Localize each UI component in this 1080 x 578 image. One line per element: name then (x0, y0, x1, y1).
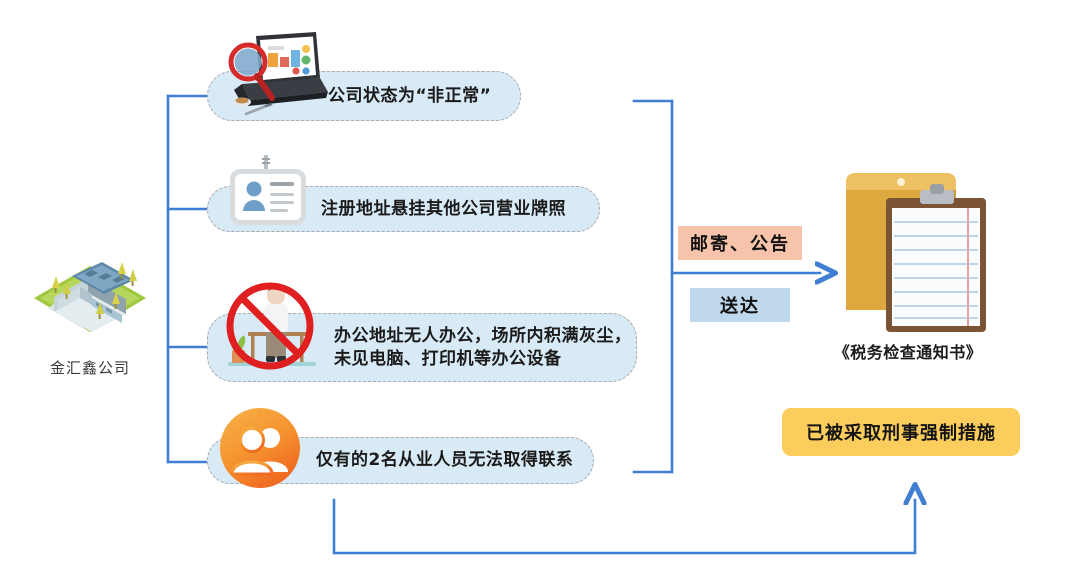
diagram-canvas: 金汇鑫公司 公司状态为“非正常” 注册地 (0, 0, 1080, 578)
envelope-clipboard-icon (828, 160, 988, 332)
finding-label-4: 仅有的2名从业人员无法取得联系 (316, 449, 573, 471)
notice-document-label: 《税务检查通知书》 (828, 339, 988, 363)
finding-box-2[interactable]: 注册地址悬挂其他公司营业牌照 (207, 186, 600, 232)
finding-label-2: 注册地址悬挂其他公司营业牌照 (321, 198, 566, 220)
delivery-label: 送达 (690, 288, 790, 322)
notice-document-node: 《税务检查通知书》 (828, 160, 988, 363)
source-company-node: 金汇鑫公司 (20, 252, 160, 378)
delivery-text: 送达 (720, 292, 760, 318)
factory-building-icon (30, 252, 150, 348)
finding-box-1[interactable]: 公司状态为“非正常” (207, 71, 521, 121)
finding-box-3[interactable]: 办公地址无人办公，场所内积满灰尘， 未见电脑、打印机等办公设备 (207, 313, 637, 382)
finding-label-1: 公司状态为“非正常” (328, 85, 491, 107)
outcome-badge: 已被采取刑事强制措施 (782, 408, 1020, 456)
finding-label-3: 办公地址无人办公，场所内积满灰尘， 未见电脑、打印机等办公设备 (334, 325, 632, 370)
mail-announce-text: 邮寄、公告 (690, 230, 790, 256)
source-company-label: 金汇鑫公司 (20, 357, 160, 378)
outcome-badge-text: 已被采取刑事强制措施 (806, 419, 996, 445)
mail-announce-label: 邮寄、公告 (678, 226, 802, 260)
finding-box-4[interactable]: 仅有的2名从业人员无法取得联系 (207, 437, 594, 484)
